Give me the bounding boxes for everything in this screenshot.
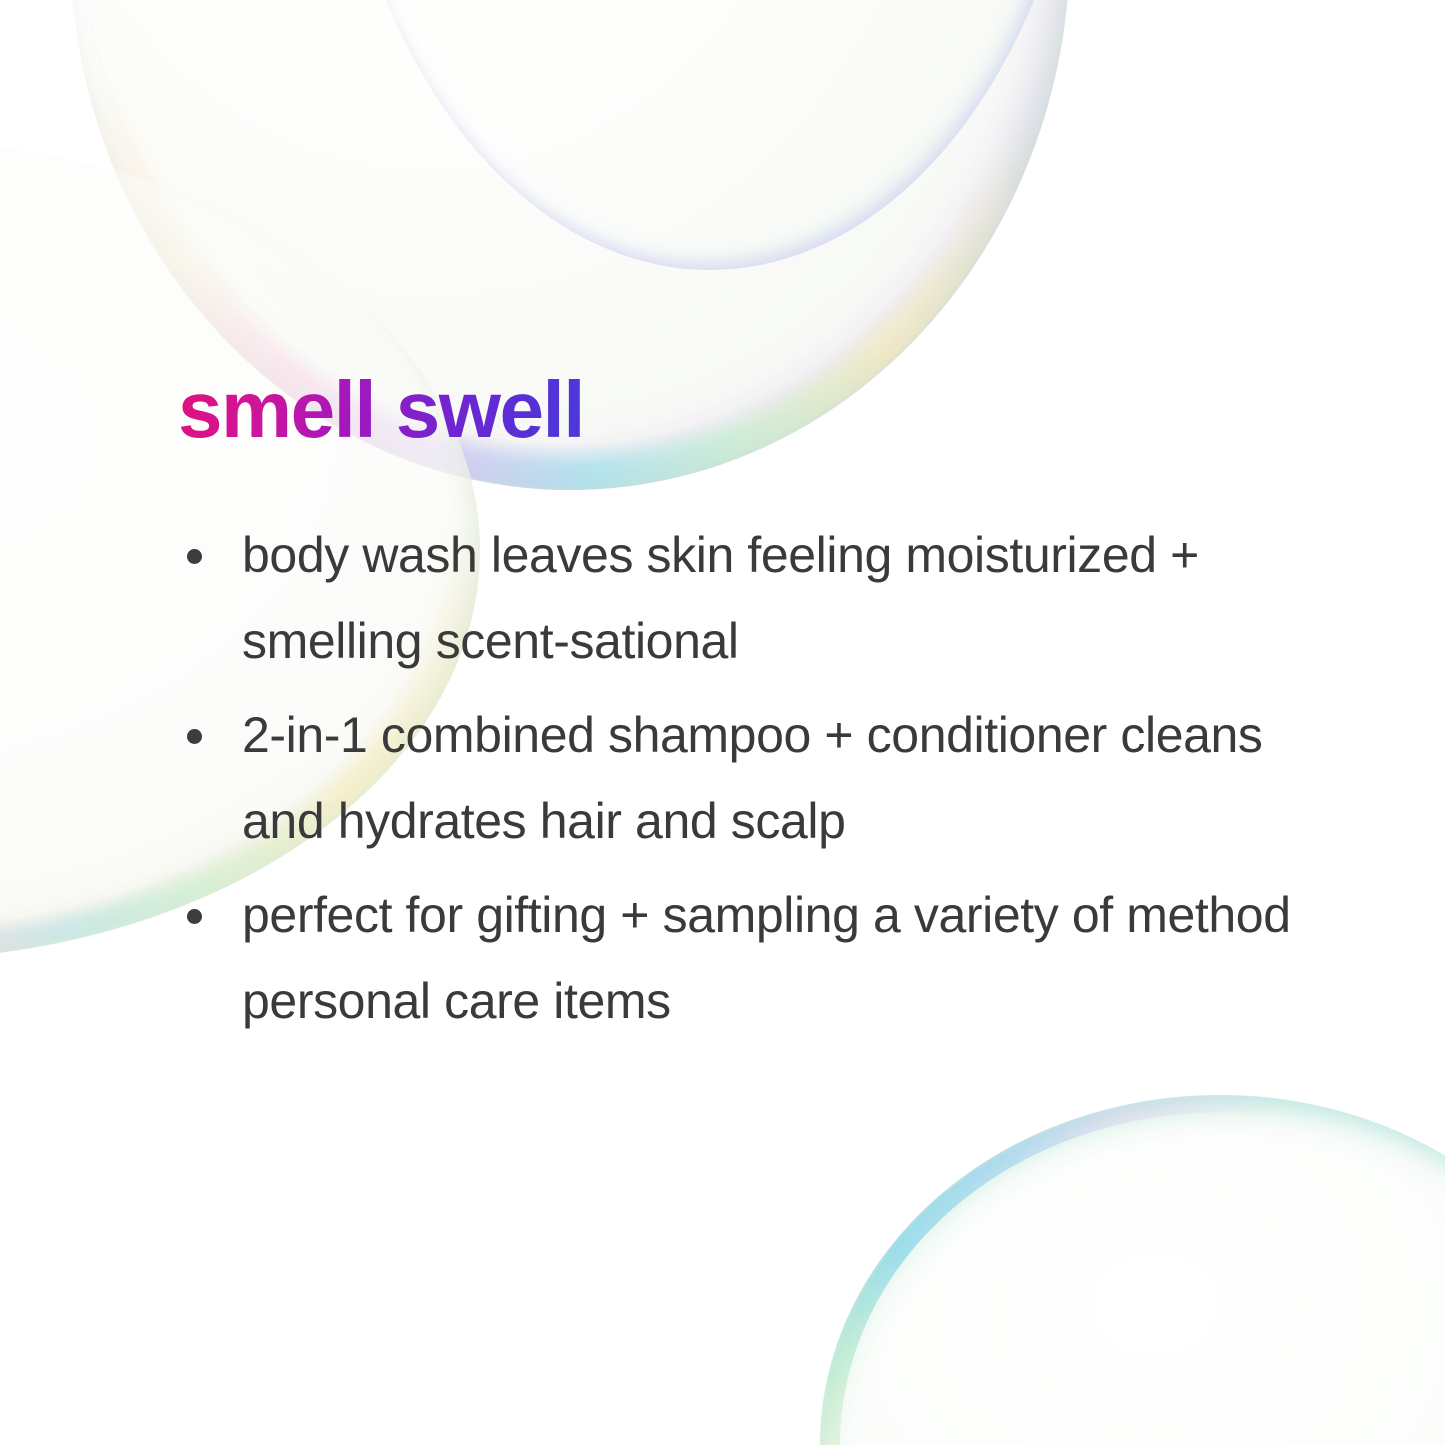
content-block: smell swell body wash leaves skin feelin… [178,370,1328,1052]
bullet-dot-icon [187,729,202,744]
list-item: 2-in-1 combined shampoo + conditioner cl… [178,692,1328,864]
bubble-bottom-rim-icon [820,1095,1445,1445]
feature-list: body wash leaves skin feeling moisturize… [178,512,1328,1044]
list-item-label: 2-in-1 combined shampoo + conditioner cl… [242,707,1263,849]
list-item: body wash leaves skin feeling moisturize… [178,512,1328,684]
product-feature-card: smell swell body wash leaves skin feelin… [0,0,1445,1445]
bubble-top-arc-icon [330,0,1090,270]
bullet-dot-icon [187,549,202,564]
list-item-label: body wash leaves skin feeling moisturize… [242,527,1199,669]
bullet-dot-icon [187,909,202,924]
page-title: smell swell [178,370,584,450]
list-item-label: perfect for gifting + sampling a variety… [242,887,1291,1029]
list-item: perfect for gifting + sampling a variety… [178,872,1328,1044]
bubble-bottom-icon [820,1095,1445,1445]
